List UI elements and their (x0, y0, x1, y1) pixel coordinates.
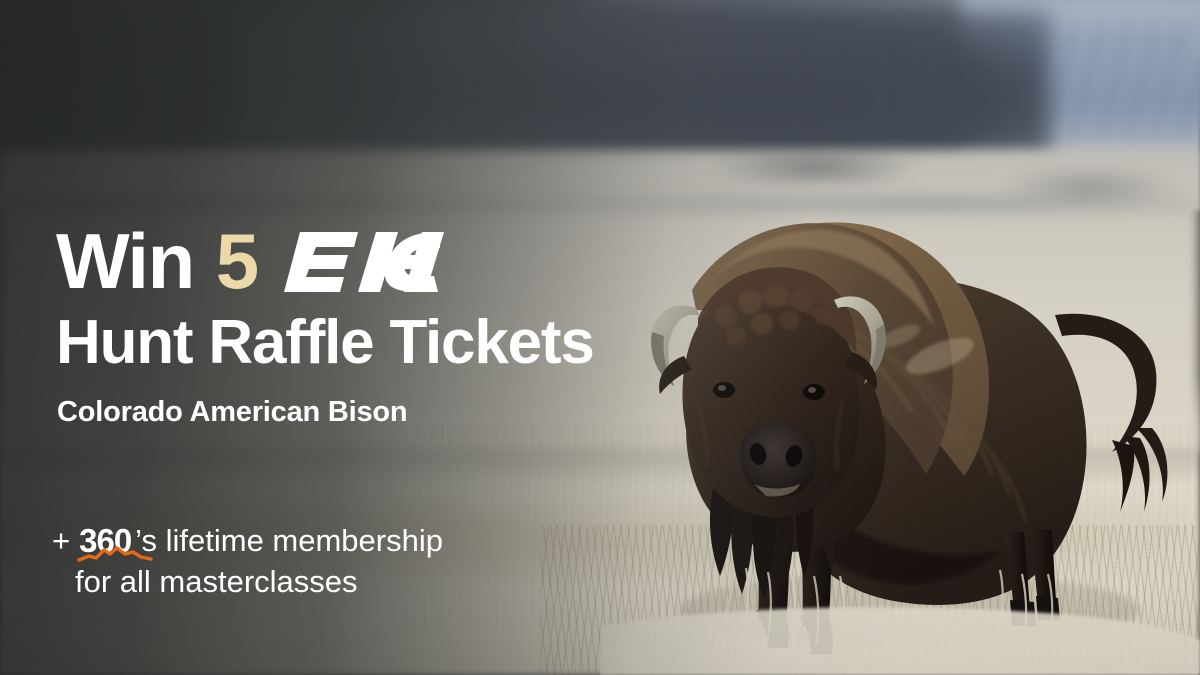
offer-block: + 360 ’s lifetime membership for all mas… (52, 518, 443, 603)
offer-line-2: for all masterclasses (75, 562, 443, 603)
brand-360-digits: 360 (79, 522, 131, 559)
dark-ridge-center (230, 10, 1050, 160)
plus-symbol: + (52, 521, 70, 562)
headline-ticket-count: 5 (216, 222, 258, 300)
headline-word-win: Win (56, 222, 194, 300)
offer-line-1: + 360 ’s lifetime membership (52, 518, 443, 562)
brand-360-logo: 360 (79, 519, 131, 563)
headline-line-1: Win 5 (56, 222, 446, 300)
offer-suffix: ’s lifetime membership (135, 521, 443, 562)
headline-line-2: Hunt Raffle Tickets (56, 312, 594, 374)
bison-illustration (600, 140, 1200, 675)
ehc-logo (284, 230, 446, 292)
promotional-banner: Win 5 Hunt Raffle Tickets Colorado Ameri… (0, 0, 1200, 675)
subheadline: Colorado American Bison (57, 398, 407, 427)
